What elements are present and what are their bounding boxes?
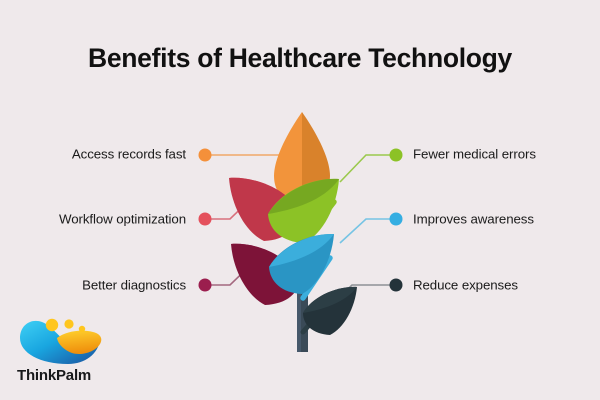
benefit-label-improves-awareness: Improves awareness xyxy=(413,212,534,227)
benefit-label-fewer-medical-errors: Fewer medical errors xyxy=(413,147,536,162)
bullet-dot-better-diagnostics xyxy=(199,279,212,292)
benefit-label-access-records-fast: Access records fast xyxy=(72,147,186,162)
logo-dot-medium xyxy=(64,319,73,328)
benefit-label-better-diagnostics: Better diagnostics xyxy=(82,278,186,293)
logo-dot-small xyxy=(79,326,85,332)
bullet-dot-fewer-medical-errors xyxy=(390,149,403,162)
bullet-dot-access-records-fast xyxy=(199,149,212,162)
bullet-dot-reduce-expenses xyxy=(390,279,403,292)
logo-wordmark: ThinkPalm xyxy=(17,367,91,384)
page-title: Benefits of Healthcare Technology xyxy=(0,43,600,74)
logo-dot-large xyxy=(46,319,58,331)
benefit-label-workflow-optimization: Workflow optimization xyxy=(59,212,186,227)
bullet-dot-improves-awareness xyxy=(390,213,403,226)
benefit-label-reduce-expenses: Reduce expenses xyxy=(413,278,518,293)
bullet-dot-workflow-optimization xyxy=(199,213,212,226)
